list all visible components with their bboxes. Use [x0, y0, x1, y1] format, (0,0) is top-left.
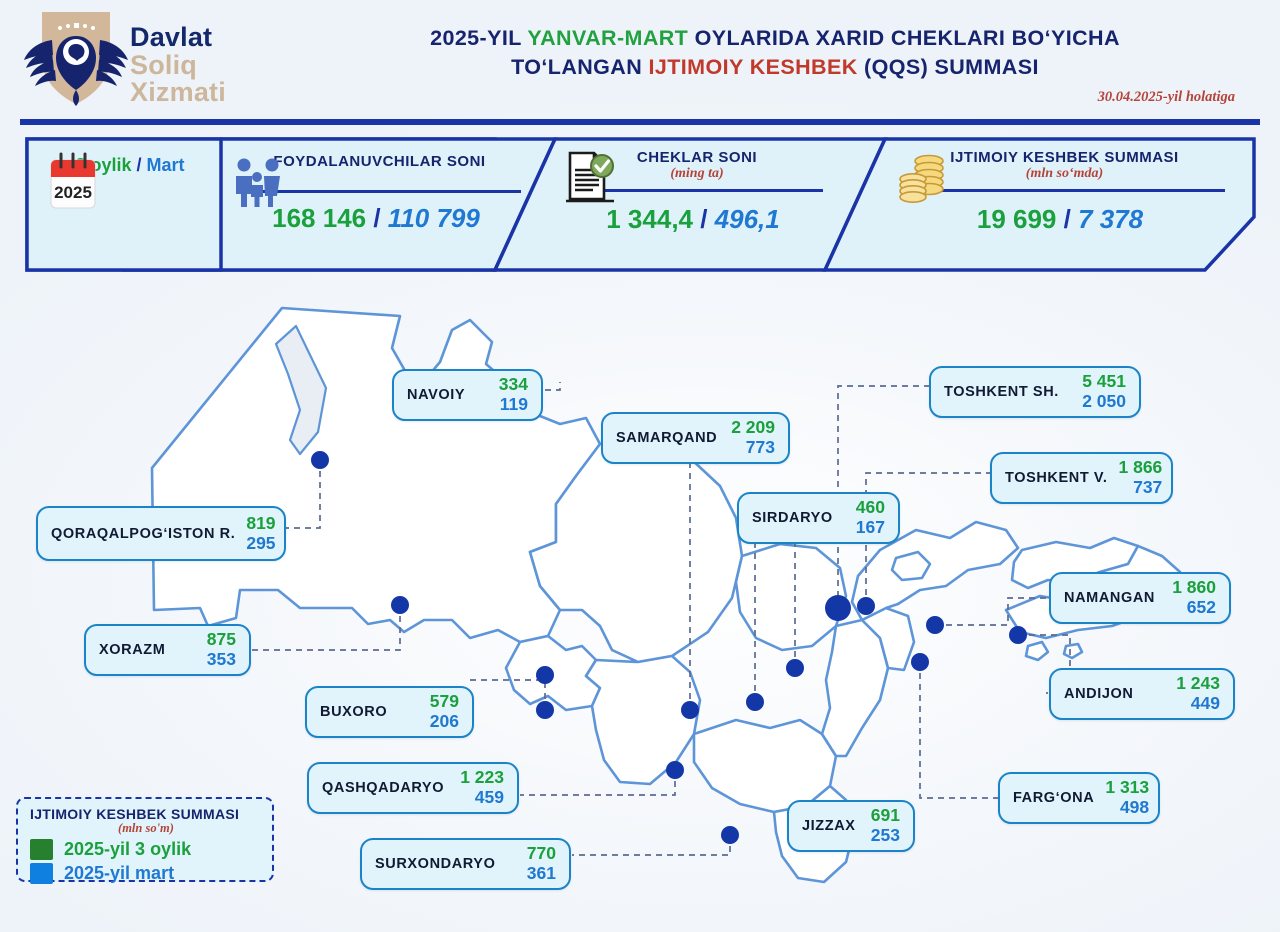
callout-namangan[interactable]: NAMANGAN 1 860 652 [1049, 572, 1231, 624]
legend-swatch-blue [30, 863, 53, 884]
legend-label-quarter: 2025-yil 3 oylik [64, 839, 191, 860]
callout-values-toshkent-sh: 5 451 2 050 [1070, 372, 1126, 411]
callout-xorazm[interactable]: XORAZM 875 353 [84, 624, 251, 676]
callout-label-jizzax: JIZZAX [802, 818, 856, 834]
callout-label-qashqadaryo: QASHQADARYO [322, 780, 444, 796]
calendar-icon: 2025 [47, 151, 99, 213]
pin-xorazm [391, 596, 409, 614]
callout-label-qoraqalpogiston: QORAQALPOG‘ISTON R. [51, 526, 235, 542]
page-title: 2025-YIL YANVAR-MART OYLARIDA XARID CHEK… [300, 24, 1250, 81]
kpi-card-receipts: CHEKLAR SONI (ming ta) 1 344,4 / 496,1 [563, 149, 823, 235]
title-rest-2: (QQS) SUMMASI [858, 55, 1039, 79]
title-cashback: IJTIMOIY KESHBEK [649, 55, 858, 79]
family-icon [231, 155, 283, 207]
title-paid: TO‘LANGAN [511, 55, 648, 79]
period-slash: / [132, 155, 147, 175]
logo-word-xizmati: Xizmati [130, 79, 226, 107]
legend-item-month: 2025-yil mart [30, 863, 262, 884]
callout-label-fargona: FARG‘ONA [1013, 790, 1094, 806]
page-header: Davlat Soliq Xizmati 2025-YIL YANVAR-MAR… [0, 0, 1280, 118]
pin-qoraqalpogiston [311, 451, 329, 469]
callout-label-navoiy: NAVOIY [407, 387, 465, 403]
callout-values-sirdaryo: 460 167 [844, 498, 885, 537]
callout-buxoro[interactable]: BUXORO 579 206 [305, 686, 474, 738]
as-of-date: 30.04.2025-yil holatiga [1098, 89, 1235, 106]
kpi-receipts-month: 496,1 [715, 204, 780, 234]
callout-label-namangan: NAMANGAN [1064, 590, 1155, 606]
callout-label-xorazm: XORAZM [99, 642, 165, 658]
kpi-users-month: 110 799 [388, 203, 480, 233]
callout-label-andijon: ANDIJON [1064, 686, 1133, 702]
callout-toshkent-sh[interactable]: TOSHKENT SH. 5 451 2 050 [929, 366, 1141, 418]
kpi-period-cell: 2025 3 oylik / Mart [47, 151, 213, 176]
kpi-card-cashback: IJTIMOIY KESHBEK SUMMASI (mln so‘mda) 19… [895, 149, 1225, 235]
callout-navoiy[interactable]: NAVOIY 334 119 [392, 369, 543, 421]
kpi-users-quarter: 168 146 [272, 203, 366, 233]
callout-values-qashqadaryo: 1 223 459 [455, 768, 504, 807]
callout-values-navoiy: 334 119 [476, 375, 528, 414]
title-months: YANVAR-MART [527, 26, 688, 50]
callout-surxondaryo[interactable]: SURXONDARYO 770 361 [360, 838, 571, 890]
kpi-cashback-quarter: 19 699 [977, 204, 1057, 234]
pin-qashqadaryo [666, 761, 684, 779]
coins-icon [895, 149, 953, 207]
callout-values-qoraqalpogiston: 819 295 [246, 514, 275, 553]
pin-fargona [911, 653, 929, 671]
pin-navoiy [536, 666, 554, 684]
callout-label-toshkent-v: TOSHKENT V. [1005, 470, 1108, 486]
pin-namangan [926, 616, 944, 634]
agency-logo: Davlat Soliq Xizmati [22, 6, 252, 110]
title-rest-1: OYLARIDA XARID CHEKLARI BO‘YICHA [688, 26, 1120, 50]
logo-word-davlat: Davlat [130, 24, 226, 52]
title-line-1: 2025-YIL YANVAR-MART OYLARIDA XARID CHEK… [300, 24, 1250, 53]
legend-item-quarter: 2025-yil 3 oylik [30, 839, 262, 860]
callout-values-jizzax: 691 253 [867, 806, 900, 845]
callout-label-surxondaryo: SURXONDARYO [375, 856, 495, 872]
header-divider [20, 119, 1260, 125]
pin-toshkent-v [857, 597, 875, 615]
period-month: Mart [147, 155, 185, 175]
logo-word-soliq: Soliq [130, 52, 226, 80]
callout-qoraqalpogiston[interactable]: QORAQALPOG‘ISTON R. 819 295 [36, 506, 286, 561]
callout-samarqand[interactable]: SAMARQAND 2 209 773 [601, 412, 790, 464]
callout-label-sirdaryo: SIRDARYO [752, 510, 833, 526]
kpi-strip: 2025 3 oylik / Mart FOYDALANUVCHILAR SON… [25, 137, 1257, 272]
callout-values-andijon: 1 243 449 [1144, 674, 1220, 713]
pin-surxondaryo [721, 826, 739, 844]
kpi-users-values: 168 146 / 110 799 [231, 203, 521, 234]
pin-samarqand [681, 701, 699, 719]
callout-values-fargona: 1 313 498 [1105, 778, 1149, 817]
pin-toshkent-sh [825, 595, 851, 621]
pin-sirdaryo [786, 659, 804, 677]
kpi-cashback-month: 7 378 [1078, 204, 1143, 234]
callout-values-buxoro: 579 206 [398, 692, 459, 731]
callout-sirdaryo[interactable]: SIRDARYO 460 167 [737, 492, 900, 544]
callout-jizzax[interactable]: JIZZAX 691 253 [787, 800, 915, 852]
callout-values-toshkent-v: 1 866 737 [1119, 458, 1163, 497]
title-year: 2025-YIL [430, 26, 527, 50]
callout-qashqadaryo[interactable]: QASHQADARYO 1 223 459 [307, 762, 519, 814]
kpi-receipts-values: 1 344,4 / 496,1 [563, 204, 823, 235]
callout-label-samarqand: SAMARQAND [616, 430, 717, 446]
legend-unit: (mln so'm) [30, 821, 262, 836]
kpi-receipts-quarter: 1 344,4 [606, 204, 693, 234]
legend-swatch-green [30, 839, 53, 860]
receipt-check-icon [563, 149, 617, 207]
kpi-card-users: FOYDALANUVCHILAR SONI 168 146 / 110 799 [231, 153, 521, 234]
callout-values-xorazm: 875 353 [176, 630, 236, 669]
pin-buxoro [536, 701, 554, 719]
calendar-year-text: 2025 [54, 183, 92, 202]
kpi-cashback-values: 19 699 / 7 378 [895, 204, 1225, 235]
callout-label-toshkent-sh: TOSHKENT SH. [944, 384, 1059, 400]
legend-label-month: 2025-yil mart [64, 863, 174, 884]
callout-values-samarqand: 2 209 773 [728, 418, 775, 457]
callout-andijon[interactable]: ANDIJON 1 243 449 [1049, 668, 1235, 720]
callout-toshkent-v[interactable]: TOSHKENT V. 1 866 737 [990, 452, 1173, 504]
pin-andijon [1009, 626, 1027, 644]
map-legend: IJTIMOIY KESHBEK SUMMASI (mln so'm) 2025… [16, 797, 274, 882]
callout-values-surxondaryo: 770 361 [506, 844, 556, 883]
callout-values-namangan: 1 860 652 [1166, 578, 1216, 617]
eagle-shield-emblem-icon [22, 6, 130, 110]
title-line-2: TO‘LANGAN IJTIMOIY KESHBEK (QQS) SUMMASI [300, 53, 1250, 82]
callout-fargona[interactable]: FARG‘ONA 1 313 498 [998, 772, 1160, 824]
callout-label-buxoro: BUXORO [320, 704, 387, 720]
pin-jizzax [746, 693, 764, 711]
legend-title: IJTIMOIY KESHBEK SUMMASI [30, 806, 262, 822]
